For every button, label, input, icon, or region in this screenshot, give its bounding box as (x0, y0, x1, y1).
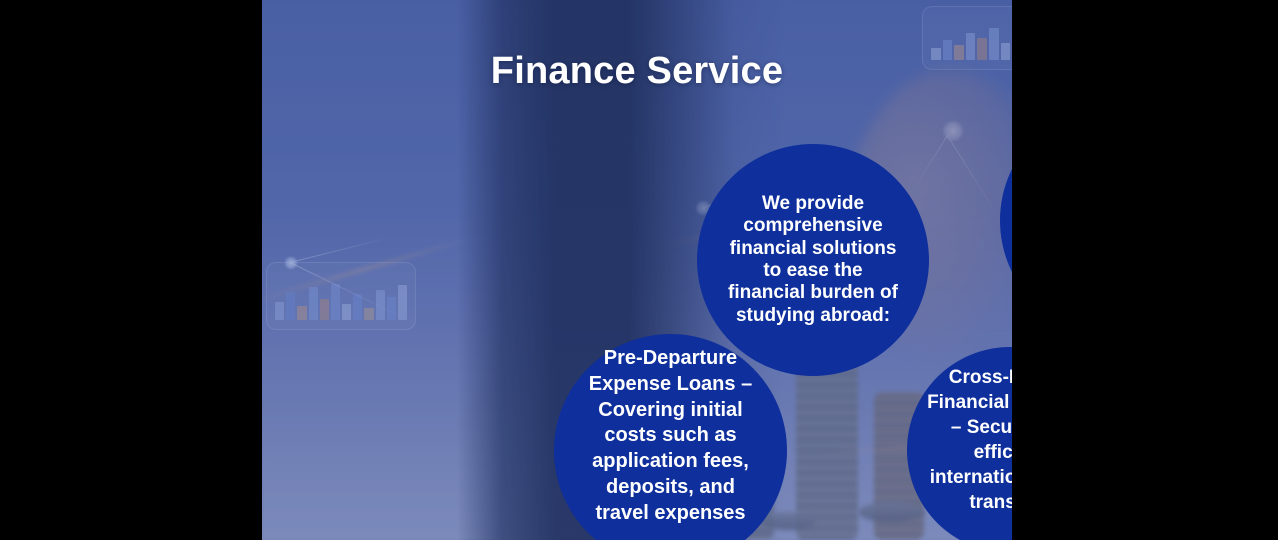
pre-departure-bubble[interactable]: Pre-Departure Expense Loans – Covering i… (554, 334, 787, 540)
network-line (948, 136, 994, 209)
intro-bubble-text: We provide comprehensive financial solut… (713, 193, 913, 327)
slide-root: Finance Service We provide comprehensive… (0, 0, 1278, 540)
page-title: Finance Service (262, 52, 1012, 90)
network-node-icon (942, 120, 964, 142)
network-line (290, 262, 398, 316)
student-loan-bubble[interactable]: Student Loan Fund – Flexible financing o… (1000, 104, 1012, 337)
network-line (915, 134, 949, 187)
hud-bar-chart (275, 280, 407, 320)
intro-bubble[interactable]: We provide comprehensive financial solut… (697, 144, 929, 376)
cross-border-bubble[interactable]: Cross-Border Financial Services – Secure… (907, 347, 1012, 540)
coin-flat (858, 502, 924, 522)
pre-departure-bubble-text: Pre-Departure Expense Loans – Covering i… (571, 346, 771, 527)
letterbox-right (1012, 0, 1278, 540)
slide-canvas: Finance Service We provide comprehensive… (262, 0, 1012, 540)
cross-border-bubble-text: Cross-Border Financial Services – Secure… (917, 365, 1012, 515)
network-node-icon (284, 256, 298, 270)
hud-chart-panel (266, 262, 416, 330)
letterbox-left (0, 0, 262, 540)
network-line (290, 239, 383, 263)
light-streak (262, 237, 474, 303)
